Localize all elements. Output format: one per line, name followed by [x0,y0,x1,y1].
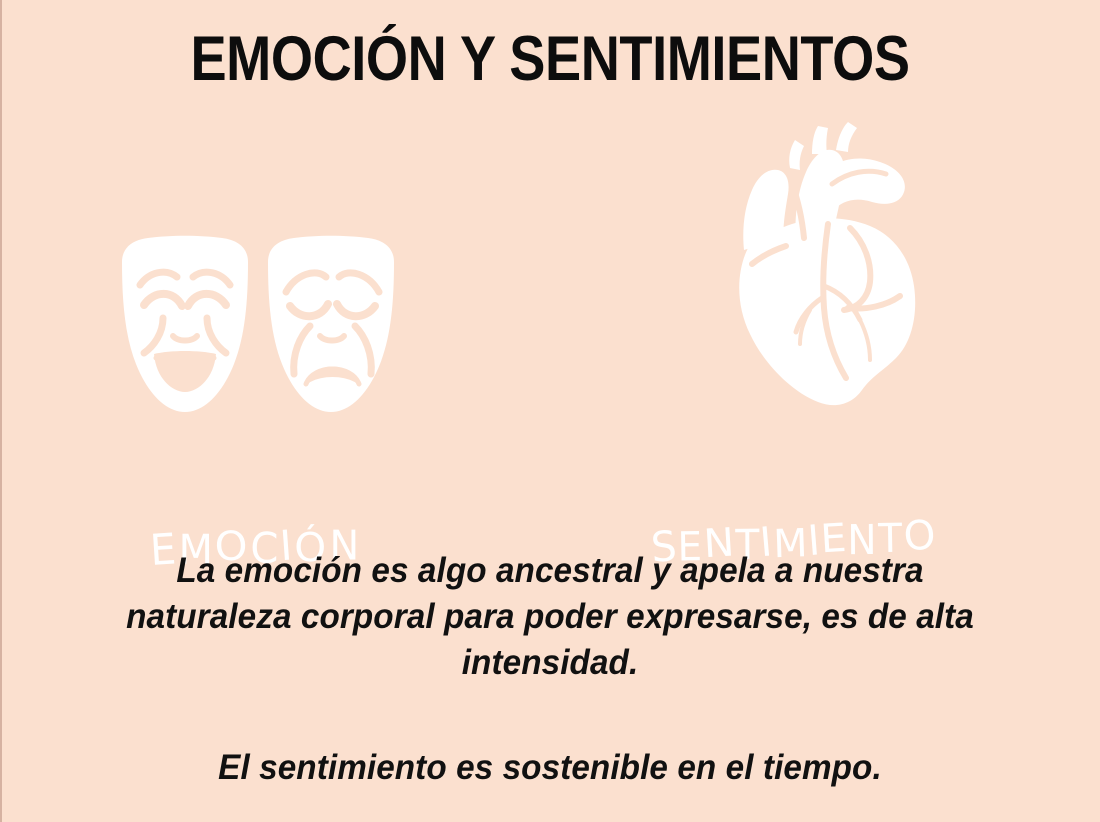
icon-row: EMOCIÓN SENTIMIENTO [0,118,1100,458]
body-paragraph-2: El sentimiento es sostenible en el tiemp… [28,745,1073,791]
theater-masks-icon [108,178,408,478]
body-paragraph-1: La emoción es algo ancestral y apela a n… [28,548,1073,686]
page-title: EMOCIÓN Y SENTIMIENTOS [77,26,1023,92]
anatomical-heart-icon [700,120,960,420]
body-copy: La emoción es algo ancestral y apela a n… [0,548,1100,791]
slide-canvas: EMOCIÓN Y SENTIMIENTOS [0,0,1100,822]
